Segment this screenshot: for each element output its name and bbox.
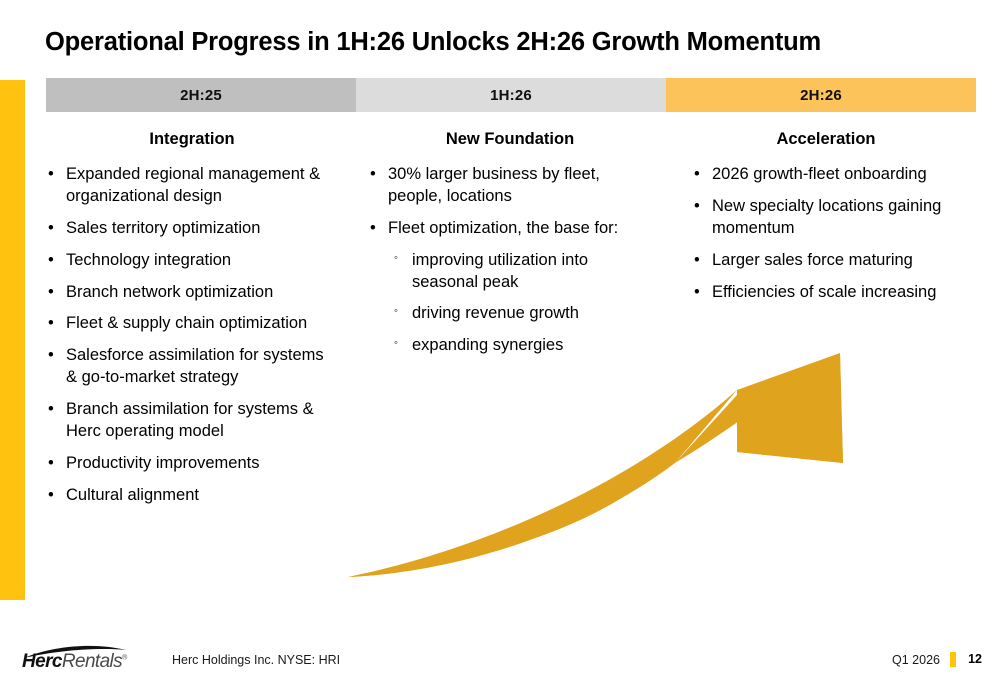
bullet-marker-icon: •: [694, 282, 700, 304]
bullet-marker-icon: •: [370, 218, 376, 240]
list-item-label: Branch assimilation for systems & Herc o…: [66, 400, 314, 440]
bullet-list: •Expanded regional management & organiza…: [46, 164, 338, 507]
list-item: •Sales territory optimization: [46, 218, 338, 240]
phase-columns: Integration•Expanded regional management…: [46, 130, 976, 517]
list-item: •Larger sales force maturing: [692, 250, 970, 272]
column-heading: Integration: [46, 130, 338, 150]
list-item-label: 2026 growth-fleet onboarding: [712, 165, 927, 183]
list-item: •Expanded regional management & organiza…: [46, 164, 338, 208]
list-item-label: driving revenue growth: [412, 304, 579, 322]
list-item: •Salesforce assimilation for systems & g…: [46, 345, 338, 389]
list-item-label: Fleet optimization, the base for:: [388, 219, 618, 237]
bullet-marker-icon: •: [694, 196, 700, 218]
list-item: •Fleet & supply chain optimization: [46, 313, 338, 335]
list-item-label: Efficiencies of scale increasing: [712, 283, 936, 301]
left-accent-bar: [0, 80, 25, 600]
footer-company-text: Herc Holdings Inc. NYSE: HRI: [172, 653, 340, 667]
phase-column-2: New Foundation•30% larger business by fl…: [356, 130, 666, 517]
page-title: Operational Progress in 1H:26 Unlocks 2H…: [45, 28, 965, 57]
list-item: ◦driving revenue growth: [368, 303, 652, 325]
slide-footer: HercRentals® Herc Holdings Inc. NYSE: HR…: [0, 640, 1000, 685]
bullet-marker-icon: •: [48, 313, 54, 335]
bullet-list: •30% larger business by fleet, people, l…: [368, 164, 652, 358]
footer-page-number: 12: [968, 652, 982, 666]
phase-segment-1[interactable]: 2H:25: [46, 78, 356, 112]
list-item: •2026 growth-fleet onboarding: [692, 164, 970, 186]
logo-registered-mark: ®: [122, 655, 127, 662]
phase-segment-3[interactable]: 2H:26: [666, 78, 976, 112]
logo-rentals-text: Rentals: [62, 651, 122, 672]
bullet-marker-icon: •: [48, 164, 54, 186]
logo-herc-text: Herc: [22, 651, 62, 672]
phase-column-1: Integration•Expanded regional management…: [46, 130, 356, 517]
list-item: •Cultural alignment: [46, 485, 338, 507]
logo-wordmark: HercRentals®: [22, 651, 127, 673]
bullet-marker-icon: •: [48, 485, 54, 507]
phase-timeline-bar: 2H:251H:262H:26: [46, 78, 976, 112]
list-item-label: 30% larger business by fleet, people, lo…: [388, 165, 600, 205]
phase-segment-2[interactable]: 1H:26: [356, 78, 666, 112]
list-item-label: Technology integration: [66, 251, 231, 269]
list-item-label: New specialty locations gaining momentum: [712, 197, 941, 237]
list-item: •30% larger business by fleet, people, l…: [368, 164, 652, 208]
footer-period-text: Q1 2026: [892, 653, 940, 667]
bullet-marker-icon: •: [370, 164, 376, 186]
list-item-label: Cultural alignment: [66, 486, 199, 504]
bullet-list: •2026 growth-fleet onboarding•New specia…: [692, 164, 970, 304]
bullet-marker-icon: •: [48, 282, 54, 304]
list-item-label: Salesforce assimilation for systems & go…: [66, 346, 324, 386]
bullet-marker-icon: ◦: [394, 336, 398, 351]
column-heading: Acceleration: [682, 130, 970, 150]
list-item-label: Productivity improvements: [66, 454, 259, 472]
list-item: •Branch assimilation for systems & Herc …: [46, 399, 338, 443]
list-item: •Productivity improvements: [46, 453, 338, 475]
bullet-marker-icon: •: [48, 250, 54, 272]
list-item: •New specialty locations gaining momentu…: [692, 196, 970, 240]
slide-root: Operational Progress in 1H:26 Unlocks 2H…: [0, 0, 1000, 685]
footer-separator: [950, 652, 956, 667]
list-item-label: Sales territory optimization: [66, 219, 260, 237]
list-item: •Fleet optimization, the base for:: [368, 218, 652, 240]
list-item-label: Branch network optimization: [66, 283, 273, 301]
bullet-marker-icon: •: [48, 218, 54, 240]
bullet-marker-icon: ◦: [394, 304, 398, 319]
list-item: •Technology integration: [46, 250, 338, 272]
phase-column-3: Acceleration•2026 growth-fleet onboardin…: [666, 130, 976, 517]
bullet-marker-icon: •: [694, 164, 700, 186]
list-item: •Branch network optimization: [46, 282, 338, 304]
bullet-marker-icon: •: [48, 399, 54, 421]
bullet-marker-icon: ◦: [394, 251, 398, 266]
list-item-label: expanding synergies: [412, 336, 563, 354]
list-item: ◦expanding synergies: [368, 335, 652, 357]
list-item-label: Expanded regional management & organizat…: [66, 165, 320, 205]
herc-rentals-logo: HercRentals®: [22, 644, 162, 674]
list-item-label: improving utilization into seasonal peak: [412, 251, 588, 291]
list-item: •Efficiencies of scale increasing: [692, 282, 970, 304]
bullet-marker-icon: •: [48, 453, 54, 475]
bullet-marker-icon: •: [48, 345, 54, 367]
list-item-label: Fleet & supply chain optimization: [66, 314, 307, 332]
bullet-marker-icon: •: [694, 250, 700, 272]
column-heading: New Foundation: [368, 130, 652, 150]
list-item-label: Larger sales force maturing: [712, 251, 913, 269]
list-item: ◦improving utilization into seasonal pea…: [368, 250, 652, 294]
